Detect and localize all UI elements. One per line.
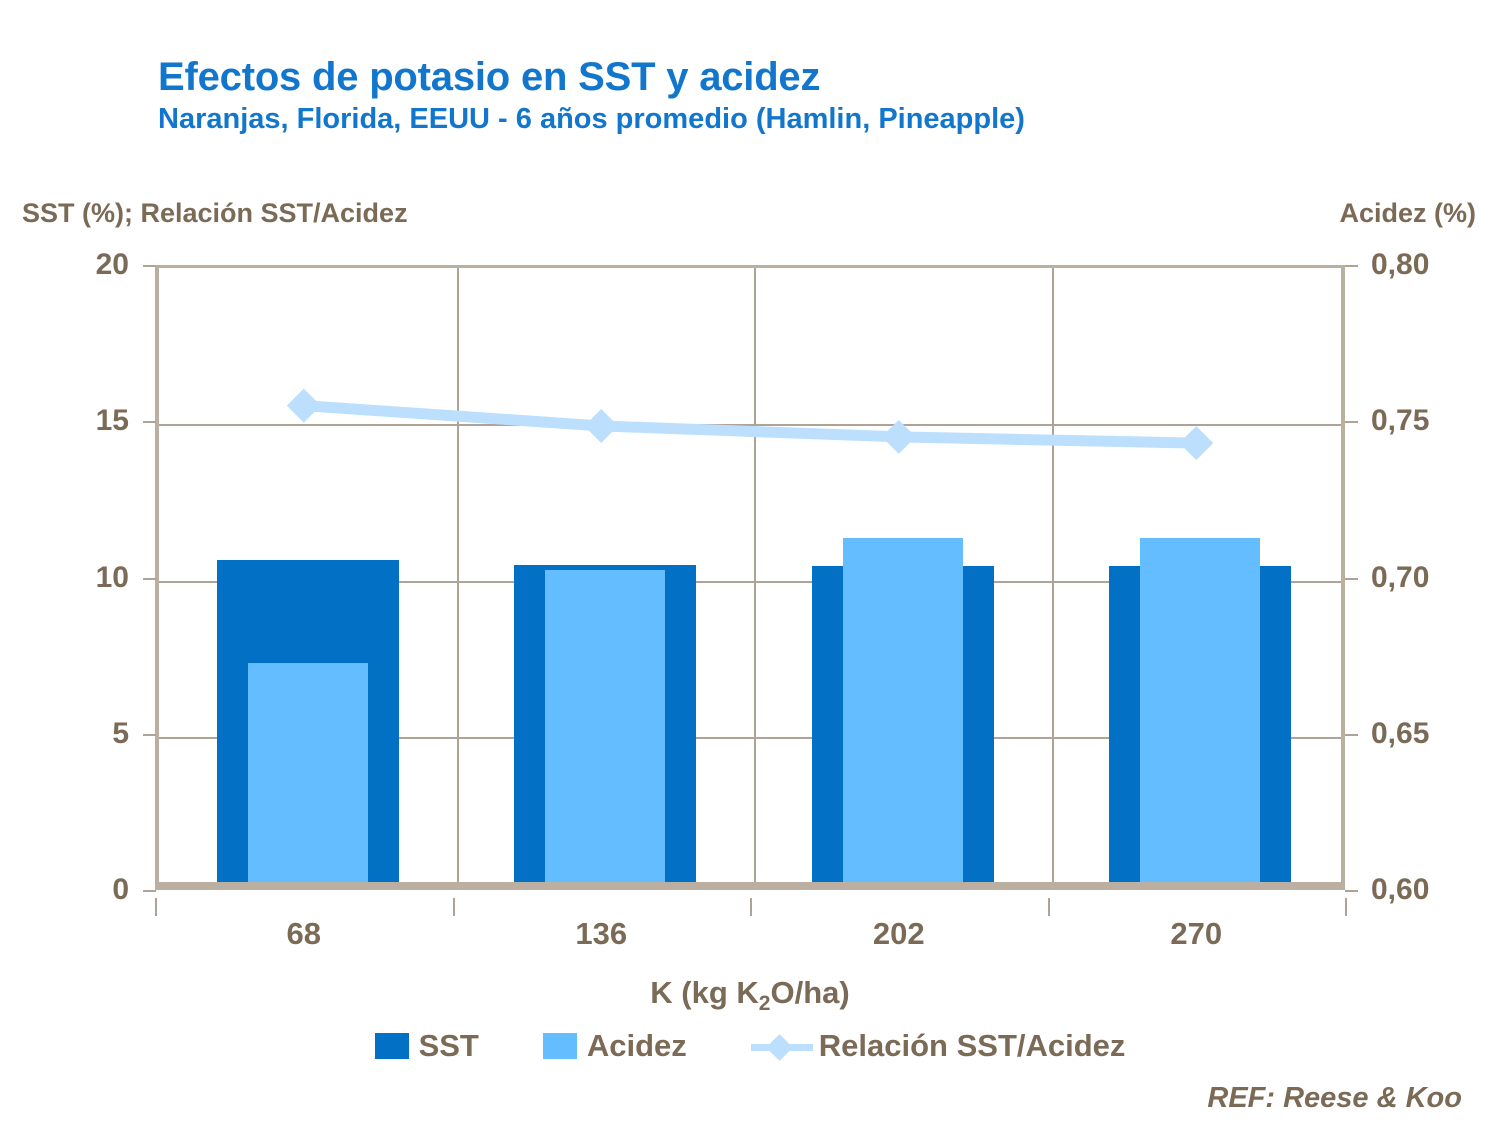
bar-acidez[interactable] [843, 538, 963, 882]
legend-label: Acidez [587, 1028, 687, 1064]
x-axis-tick-mark [1048, 898, 1050, 916]
y-axis-left-tick-mark [143, 421, 156, 423]
plot-area [155, 265, 1345, 890]
x-axis-tick-mark [750, 898, 752, 916]
reference-note: REF: Reese & Koo [1207, 1082, 1462, 1115]
x-axis-tick-mark [453, 898, 455, 916]
y-axis-right-tick-label: 0,75 [1371, 404, 1429, 438]
y-axis-left-tick-mark [143, 265, 156, 267]
legend-swatch-icon [375, 1033, 409, 1059]
y-axis-right-tick-mark [1345, 734, 1358, 736]
y-axis-right-tick-mark [1345, 265, 1358, 267]
gridline [159, 424, 1341, 426]
x-axis-tick-label: 136 [453, 916, 751, 952]
x-axis-title-prefix: K (kg K [650, 975, 759, 1010]
y-axis-right-tick-mark [1345, 421, 1358, 423]
legend-label: Relación SST/Acidez [819, 1028, 1126, 1064]
y-axis-right-tick-label: 0,70 [1371, 561, 1429, 595]
y-axis-right-tick-mark [1345, 890, 1358, 892]
y-axis-right-tick-label: 0,80 [1371, 248, 1429, 282]
bar-acidez[interactable] [1140, 538, 1260, 882]
chart-legend: SSTAcidezRelación SST/Acidez [0, 1028, 1500, 1064]
x-axis-tick-mark [1345, 898, 1347, 916]
bar-acidez[interactable] [248, 663, 368, 882]
x-axis-title: K (kg K2O/ha) [0, 975, 1500, 1016]
y-axis-left-tick-label: 5 [112, 717, 129, 751]
y-axis-left-tick-label: 0 [112, 873, 129, 907]
bar-acidez[interactable] [545, 570, 665, 883]
legend-item[interactable]: SST [375, 1028, 479, 1064]
y-axis-right-tick-label: 0,65 [1371, 717, 1429, 751]
x-axis-title-subscript: 2 [759, 992, 771, 1015]
category-separator [457, 268, 459, 882]
legend-label: SST [419, 1028, 479, 1064]
legend-item[interactable]: Acidez [543, 1028, 687, 1064]
y-axis-left-tick-label: 20 [96, 248, 129, 282]
y-axis-right-tick-label: 0,60 [1371, 873, 1429, 907]
y-axis-left-tick-mark [143, 578, 156, 580]
x-axis-tick-label: 202 [750, 916, 1048, 952]
legend-line-diamond-icon [751, 1033, 813, 1059]
chart-plot-wrapper: 051015200,600,650,700,750,8068136202270 … [0, 0, 1500, 1127]
x-axis-title-suffix: O/ha) [770, 975, 849, 1010]
x-axis-tick-label: 270 [1048, 916, 1346, 952]
y-axis-left-tick-mark [143, 890, 156, 892]
legend-swatch-icon [543, 1033, 577, 1059]
y-axis-right-tick-mark [1345, 578, 1358, 580]
y-axis-left-tick-label: 10 [96, 561, 129, 595]
x-axis-tick-label: 68 [155, 916, 453, 952]
y-axis-left-tick-label: 15 [96, 404, 129, 438]
legend-item[interactable]: Relación SST/Acidez [751, 1028, 1126, 1064]
category-separator [754, 268, 756, 882]
x-axis-tick-mark [155, 898, 157, 916]
y-axis-left-tick-mark [143, 734, 156, 736]
category-separator [1052, 268, 1054, 882]
